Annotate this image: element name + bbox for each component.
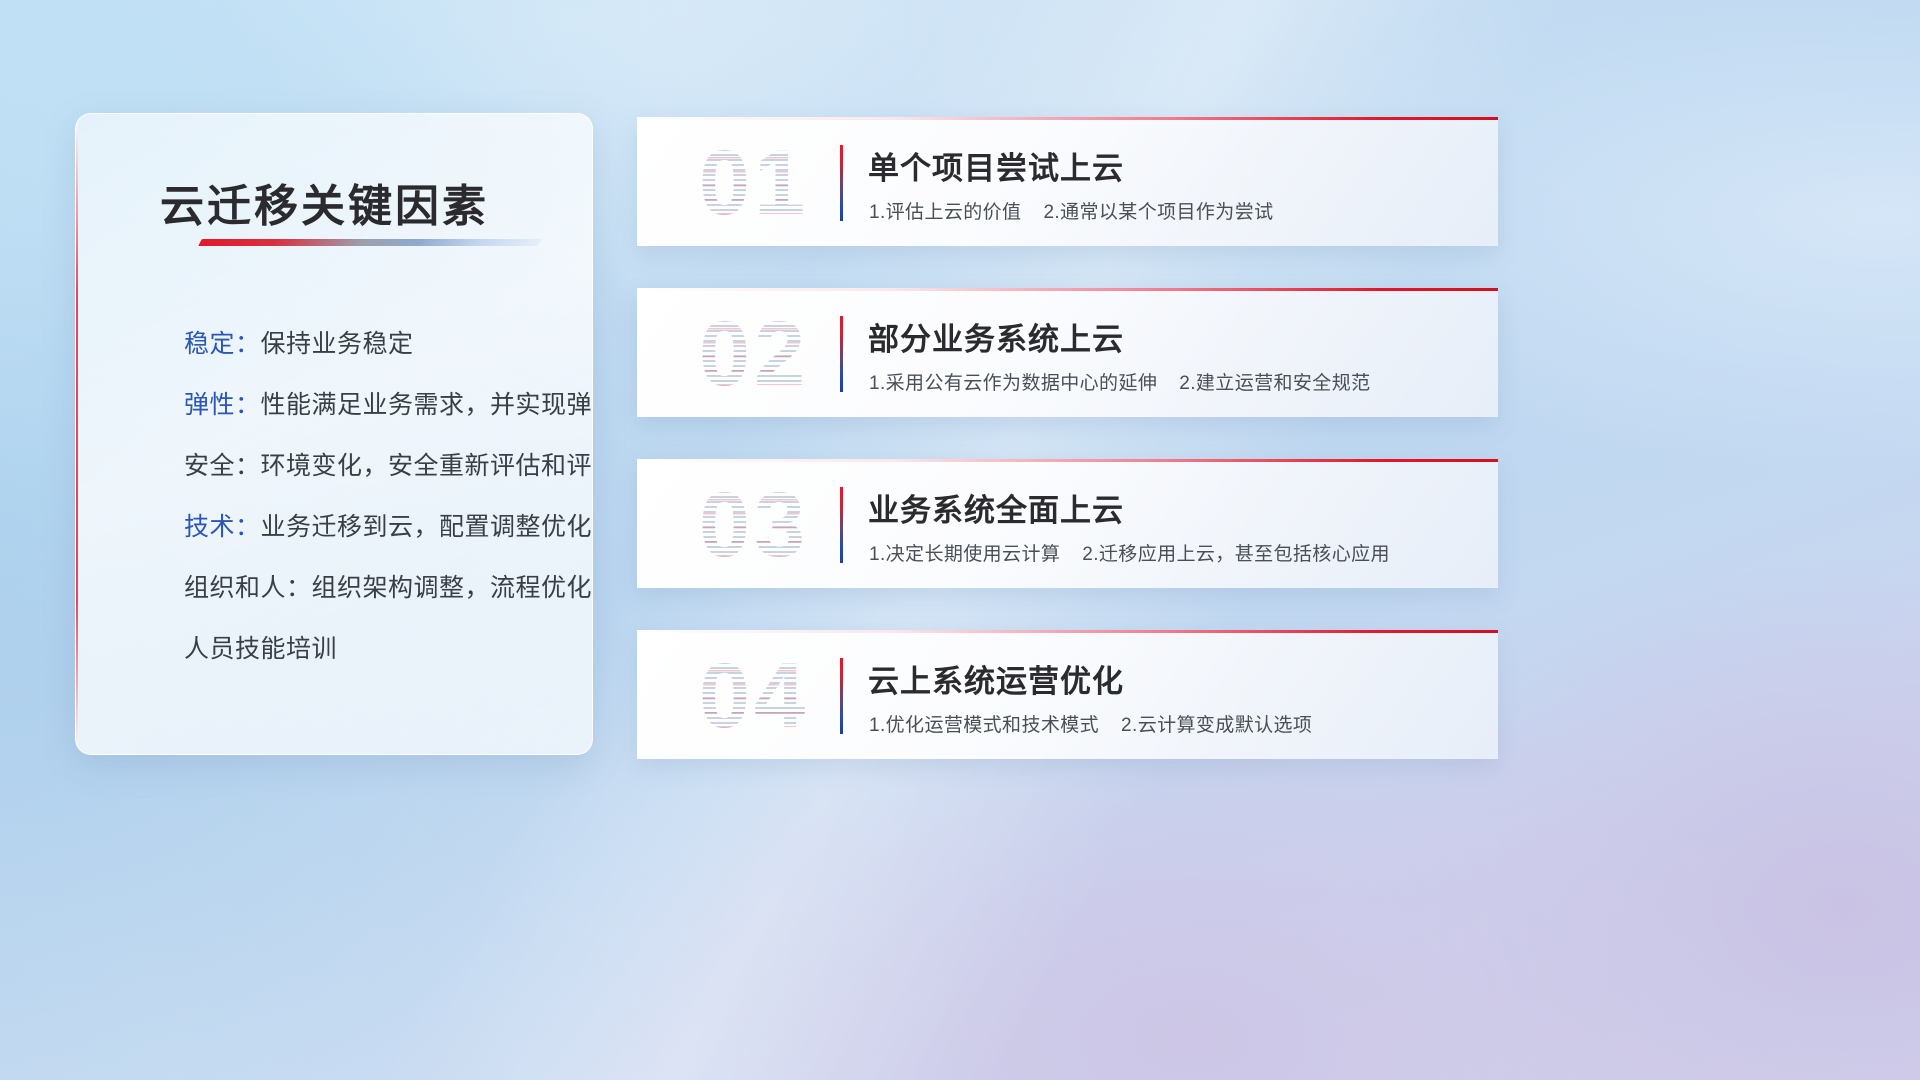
accent-divider — [840, 145, 843, 221]
stage-title: 业务系统全面上云 — [868, 485, 1124, 530]
list-item-text: 保持业务稳定 — [261, 330, 414, 358]
stage-number-tint: 01 — [659, 129, 849, 237]
stage-points: 1.评估上云的价值2.通常以某个项目作为尝试 — [869, 197, 1274, 224]
list-item-label: 组织和人： — [184, 574, 312, 602]
list-item-label: 稳定： — [184, 330, 261, 358]
key-factors-list: 稳定：保持业务稳定 弹性：性能满足业务需求，并实现弹性 安全：环境变化，安全重新… — [106, 314, 568, 680]
list-item: 稳定：保持业务稳定 — [106, 314, 568, 375]
list-item-label: 技术： — [184, 513, 261, 541]
list-item-text: 环境变化，安全重新评估和评审 — [261, 452, 593, 480]
stage-points: 1.决定长期使用云计算2.迁移应用上云，甚至包括核心应用 — [869, 539, 1390, 566]
list-item-text: 性能满足业务需求，并实现弹性 — [261, 391, 593, 419]
stage-point-1: 1.评估上云的价值 — [869, 202, 1021, 223]
stage-number-tint: 02 — [659, 300, 849, 408]
stage-point-1: 1.决定长期使用云计算 — [869, 544, 1060, 565]
list-item: 弹性：性能满足业务需求，并实现弹性 — [106, 375, 568, 436]
key-factors-panel: 云迁移关键因素 稳定：保持业务稳定 弹性：性能满足业务需求，并实现弹性 安全：环… — [75, 113, 593, 755]
list-item-text: 人员技能培训 — [184, 635, 337, 663]
stage-point-2: 2.云计算变成默认选项 — [1121, 715, 1312, 736]
stage-points: 1.采用公有云作为数据中心的延伸2.建立运营和安全规范 — [869, 368, 1371, 395]
stage-point-1: 1.采用公有云作为数据中心的延伸 — [869, 373, 1157, 394]
stage-number-tint: 04 — [659, 642, 849, 750]
stage-points: 1.优化运营模式和技术模式2.云计算变成默认选项 — [869, 710, 1312, 737]
title-underline-accent — [198, 239, 542, 246]
stage-number-tint: 03 — [659, 471, 849, 579]
accent-divider — [840, 658, 843, 734]
list-item-continuation: 人员技能培训 — [106, 619, 568, 680]
list-item: 安全：环境变化，安全重新评估和评审 — [106, 436, 568, 497]
list-item-text: 业务迁移到云，配置调整优化 — [261, 513, 593, 541]
stage-title: 云上系统运营优化 — [868, 656, 1124, 701]
stage-title: 部分业务系统上云 — [868, 314, 1124, 359]
stage-card-04[interactable]: 04 04 云上系统运营优化 1.优化运营模式和技术模式2.云计算变成默认选项 — [637, 630, 1498, 759]
list-item-label: 弹性： — [184, 391, 261, 419]
stage-card-03[interactable]: 03 03 业务系统全面上云 1.决定长期使用云计算2.迁移应用上云，甚至包括核… — [637, 459, 1498, 588]
accent-divider — [840, 487, 843, 563]
accent-divider — [840, 316, 843, 392]
stage-card-02[interactable]: 02 02 部分业务系统上云 1.采用公有云作为数据中心的延伸2.建立运营和安全… — [637, 288, 1498, 417]
stage-card-01[interactable]: 01 01 单个项目尝试上云 1.评估上云的价值2.通常以某个项目作为尝试 — [637, 117, 1498, 246]
list-item: 技术：业务迁移到云，配置调整优化 — [106, 497, 568, 558]
stage-point-2: 2.迁移应用上云，甚至包括核心应用 — [1082, 544, 1390, 565]
stage-point-2: 2.建立运营和安全规范 — [1179, 373, 1370, 394]
stage-point-2: 2.通常以某个项目作为尝试 — [1043, 202, 1273, 223]
stage-point-1: 1.优化运营模式和技术模式 — [869, 715, 1099, 736]
list-item-text: 组织架构调整，流程优化， — [312, 574, 593, 602]
list-item: 组织和人：组织架构调整，流程优化， — [106, 558, 568, 619]
list-item-label: 安全： — [184, 452, 261, 480]
page-title: 云迁移关键因素 — [160, 170, 560, 234]
stage-title: 单个项目尝试上云 — [868, 143, 1124, 188]
